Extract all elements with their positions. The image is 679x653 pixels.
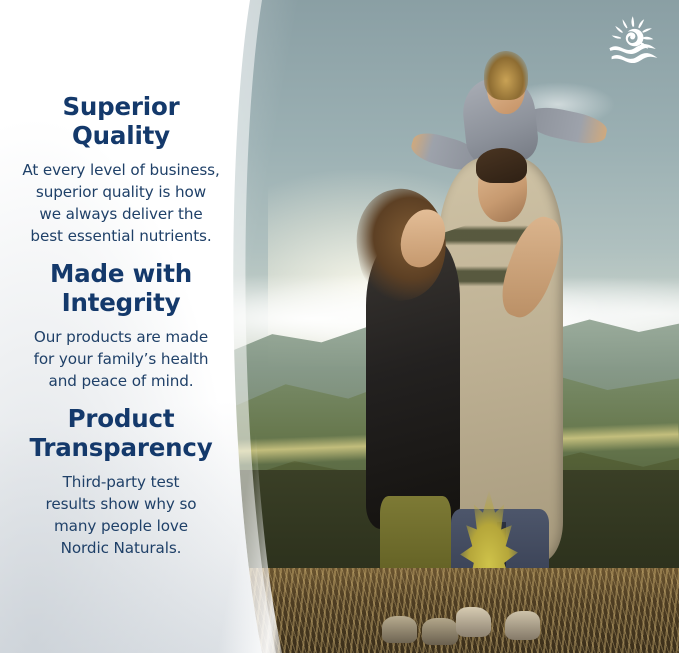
body-line: results show why so: [46, 495, 197, 513]
family-hero-photo: [232, 0, 679, 653]
heading-line: Made with: [50, 259, 192, 288]
sun-waves-logo-icon: [605, 15, 661, 63]
body-product-transparency: Third-party test results show why so man…: [6, 471, 236, 559]
marketing-banner: Superior Quality At every level of busin…: [0, 0, 679, 653]
heading-line: Transparency: [30, 433, 213, 462]
body-line: Our products are made: [34, 328, 208, 346]
heading-line: Integrity: [62, 288, 181, 317]
body-line: for your family’s health: [34, 350, 209, 368]
value-block-superior-quality: Superior Quality At every level of busin…: [6, 93, 236, 247]
heading-line: Superior: [62, 92, 179, 121]
body-line: Third-party test: [63, 473, 180, 491]
body-line: and peace of mind.: [49, 372, 194, 390]
body-superior-quality: At every level of business, superior qua…: [6, 159, 236, 247]
heading-superior-quality: Superior Quality: [6, 93, 236, 150]
body-line: we always deliver the: [39, 205, 202, 223]
body-line: At every level of business,: [22, 161, 219, 179]
body-line: best essential nutrients.: [30, 227, 211, 245]
body-line: Nordic Naturals.: [61, 539, 182, 557]
heading-product-transparency: Product Transparency: [6, 405, 236, 462]
heading-line: Quality: [72, 121, 170, 150]
value-block-product-transparency: Product Transparency Third-party test re…: [6, 405, 236, 559]
body-line: superior quality is how: [36, 183, 206, 201]
heading-made-with-integrity: Made with Integrity: [6, 260, 236, 317]
body-line: many people love: [54, 517, 188, 535]
photo-edge-shade: [232, 0, 679, 653]
body-made-with-integrity: Our products are made for your family’s …: [6, 326, 236, 392]
value-block-made-with-integrity: Made with Integrity Our products are mad…: [6, 260, 236, 392]
heading-line: Product: [68, 404, 175, 433]
value-propositions: Superior Quality At every level of busin…: [0, 0, 250, 653]
